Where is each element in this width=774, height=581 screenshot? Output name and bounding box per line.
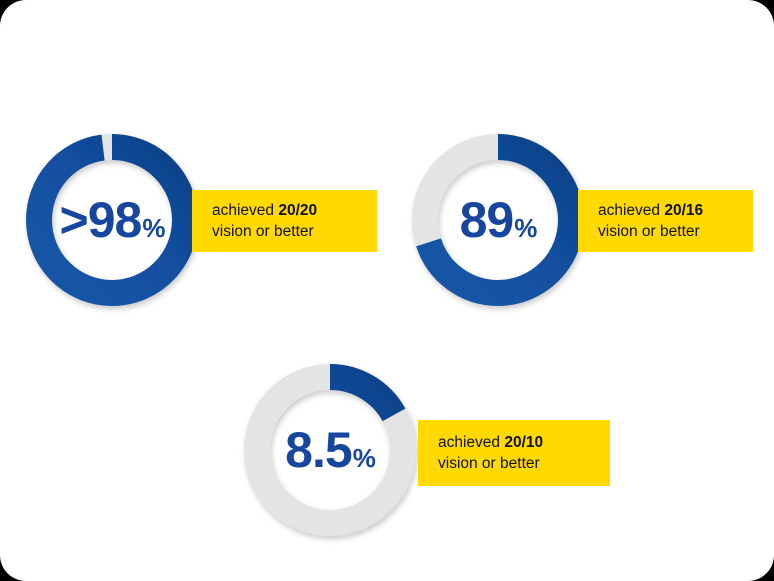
label-line-secondary: vision or better (438, 453, 610, 474)
donut-svg-2010 (240, 360, 420, 540)
label-acuity: 20/10 (504, 434, 543, 451)
donut-arc-2020 (39, 147, 185, 293)
label-box-2016: achieved 20/16 vision or better (578, 190, 753, 252)
label-line-primary: achieved 20/16 (598, 200, 753, 221)
label-line-secondary: vision or better (212, 221, 377, 242)
stat-group-2016: achieved 20/16 vision or better (408, 130, 760, 310)
donut-chart-2010: 8.5% (240, 360, 420, 540)
infographic-card: achieved 20/20 vision or better (0, 0, 774, 581)
stat-group-2010: achieved 20/10 vision or better (240, 360, 612, 540)
stat-group-2020: achieved 20/20 vision or better (22, 130, 382, 310)
label-prefix: achieved (598, 202, 664, 219)
label-prefix: achieved (438, 434, 504, 451)
label-acuity: 20/16 (664, 202, 703, 219)
donut-chart-2016: 89% (408, 130, 588, 310)
label-acuity: 20/20 (278, 202, 317, 219)
label-prefix: achieved (212, 202, 278, 219)
donut-svg-2020 (22, 130, 202, 310)
label-box-2020: achieved 20/20 vision or better (192, 190, 377, 252)
label-line-primary: achieved 20/10 (438, 432, 610, 453)
label-line-secondary: vision or better (598, 221, 753, 242)
label-line-primary: achieved 20/20 (212, 200, 377, 221)
label-box-2010: achieved 20/10 vision or better (418, 420, 610, 486)
donut-svg-2016 (408, 130, 588, 310)
donut-chart-2020: >98% (22, 130, 202, 310)
